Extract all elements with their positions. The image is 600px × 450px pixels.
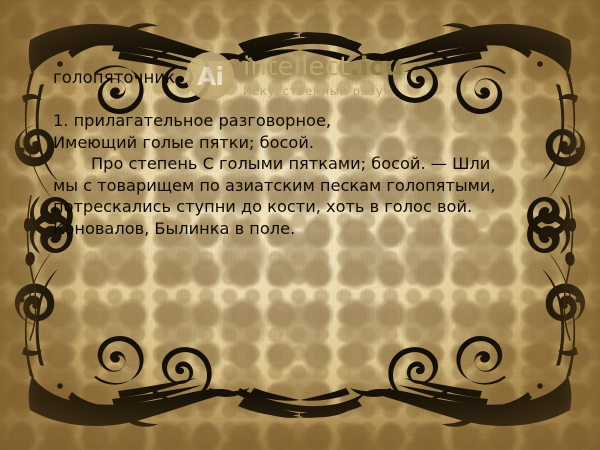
entry-line-1: 1. прилагательное разговорное, bbox=[53, 110, 543, 132]
entry-line-6-source: Коновалов, Былинка в поле. bbox=[53, 218, 543, 240]
entry-body: 1. прилагательное разговорное, Имеющий г… bbox=[53, 110, 543, 239]
entry-line-3: Про степень С голыми пятками; босой. — Ш… bbox=[53, 153, 543, 175]
ornament-band-top bbox=[236, 32, 366, 62]
ornament-corner-bottom-right bbox=[350, 213, 585, 427]
entry-line-3-text: Про степень С голыми пятками; босой. — Ш… bbox=[91, 154, 490, 173]
entry-line-5: потрескались ступни до кости, хоть в гол… bbox=[53, 196, 543, 218]
ornament-band-bottom bbox=[236, 388, 366, 418]
entry-line-2: Имеющий голые пятки; босой. bbox=[53, 132, 543, 154]
parchment-card: Ai intellect.icu Искусственный разум гол… bbox=[0, 0, 600, 450]
entry-line-4: мы с товарищем по азиатским пескам голоп… bbox=[53, 175, 543, 197]
entry-headword: голопяточник bbox=[53, 68, 175, 87]
ornament-corner-bottom-left bbox=[15, 213, 250, 427]
